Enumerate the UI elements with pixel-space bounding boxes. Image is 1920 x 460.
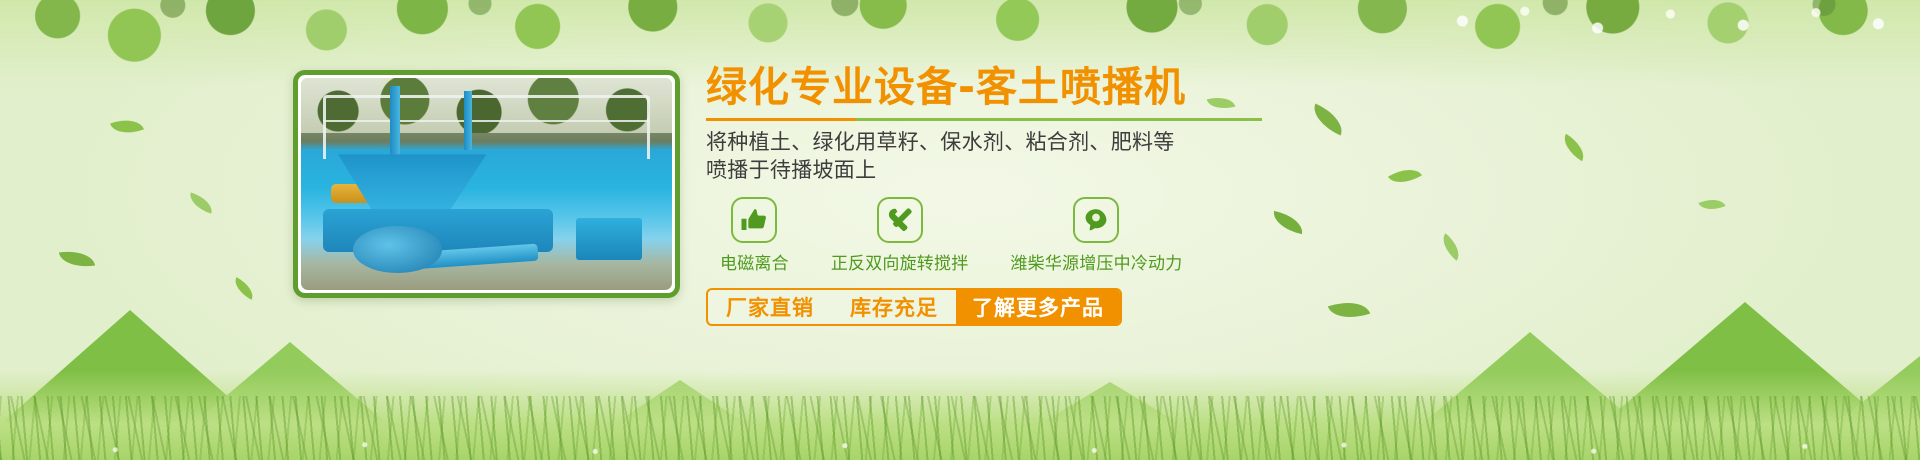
cta-text-stock: 库存充足: [832, 290, 956, 324]
subtitle-line-1: 将种植土、绿化用草籽、保水剂、粘合剂、肥料等: [706, 129, 1306, 157]
banner-content: 绿化专业设备-客土喷播机 将种植土、绿化用草籽、保水剂、粘合剂、肥料等 喷播于待…: [706, 66, 1306, 326]
engine-icon: [1073, 197, 1119, 243]
leaf-icon: [186, 192, 215, 213]
leaf-icon: [110, 113, 144, 139]
cta-text-factory-direct: 厂家直销: [708, 290, 832, 324]
feature-list: 电磁离合 正反双向旋转搅拌: [706, 197, 1306, 274]
feature-item-bidirectional-mixing[interactable]: 正反双向旋转搅拌: [831, 197, 969, 274]
title-divider: [706, 118, 1262, 121]
feature-label: 正反双向旋转搅拌: [831, 249, 969, 274]
page-title: 绿化专业设备-客土喷播机: [706, 66, 1306, 109]
grass-decoration: [0, 370, 1920, 460]
promo-banner: 绿化专业设备-客土喷播机 将种植土、绿化用草籽、保水剂、粘合剂、肥料等 喷播于待…: [0, 0, 1920, 460]
wrench-screwdriver-icon: [877, 197, 923, 243]
feature-label: 潍柴华源增压中冷动力: [1010, 249, 1182, 274]
product-photo: [293, 70, 680, 298]
blossom-decoration: [1400, 0, 1920, 70]
feature-item-engine-power[interactable]: 潍柴华源增压中冷动力: [1010, 197, 1182, 274]
thumbs-up-icon: [731, 197, 777, 243]
learn-more-button[interactable]: 了解更多产品: [956, 290, 1120, 324]
leaf-icon: [1698, 194, 1725, 215]
feature-item-electromagnetic-clutch[interactable]: 电磁离合: [720, 197, 789, 274]
subtitle-line-2: 喷播于待播坡面上: [706, 157, 1306, 185]
cta-bar: 厂家直销 库存充足 了解更多产品: [706, 288, 1122, 326]
leaf-icon: [1388, 162, 1422, 191]
feature-label: 电磁离合: [720, 249, 789, 274]
leaf-icon: [1558, 134, 1590, 162]
leaf-icon: [1308, 104, 1349, 136]
